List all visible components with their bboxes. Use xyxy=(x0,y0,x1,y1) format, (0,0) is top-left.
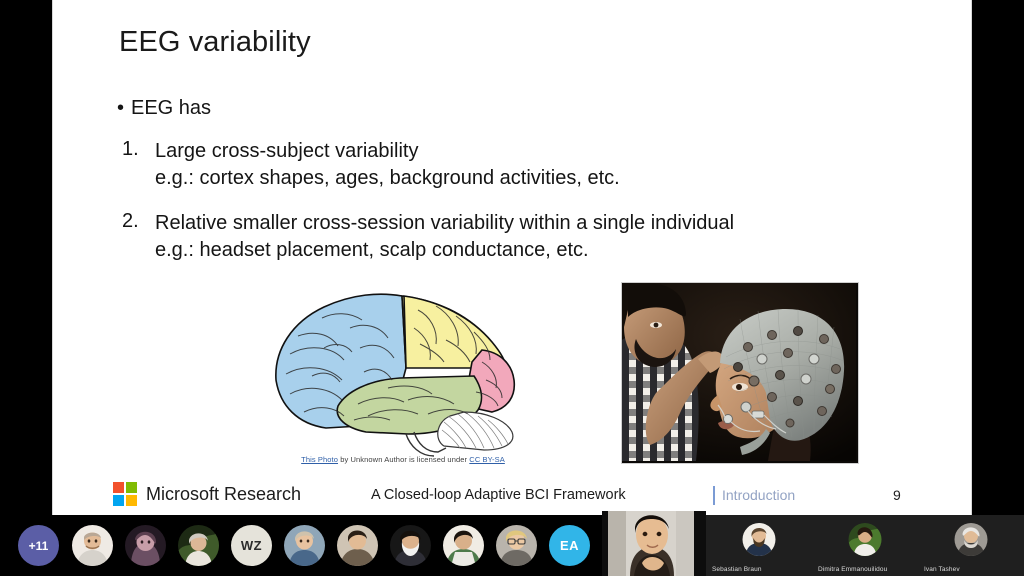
participant-name: Ivan Tashev xyxy=(924,566,960,573)
brain-lobes-diagram xyxy=(268,288,538,460)
avatar[interactable] xyxy=(337,525,378,566)
slide-canvas: EEG variability •EEG has 1. Large cross-… xyxy=(52,0,972,515)
avatar xyxy=(955,523,988,556)
avatar-initials-ea[interactable]: EA xyxy=(549,525,590,566)
section-label: Introduction xyxy=(713,487,795,503)
avatar[interactable] xyxy=(72,525,113,566)
avatar[interactable] xyxy=(284,525,325,566)
numbered-item-2-number: 2. xyxy=(117,210,155,264)
numbered-item-1-line1: Large cross-subject variability xyxy=(155,138,620,165)
avatar[interactable] xyxy=(443,525,484,566)
avatar[interactable] xyxy=(496,525,537,566)
numbered-item-1-line2: e.g.: cortex shapes, ages, background ac… xyxy=(155,165,620,192)
slide-body: •EEG has 1. Large cross-subject variabil… xyxy=(117,96,947,264)
avatar[interactable] xyxy=(125,525,166,566)
image-credit-line: This Photo by Unknown Author is licensed… xyxy=(223,455,583,464)
participant-tile-sebastian-braun[interactable]: Sebastian Braun xyxy=(706,515,812,576)
numbered-item-2: 2. Relative smaller cross-session variab… xyxy=(117,210,947,264)
bullet-item-eeg-has: •EEG has xyxy=(117,96,947,121)
meeting-participant-bar: +11 xyxy=(0,515,1024,576)
avatar xyxy=(849,523,882,556)
microsoft-research-wordmark: Microsoft Research xyxy=(146,484,301,505)
credit-license-link[interactable]: CC BY-SA xyxy=(469,455,505,464)
bullet-item-label: EEG has xyxy=(131,97,211,119)
numbered-item-1-number: 1. xyxy=(117,138,155,192)
numbered-item-2-line1: Relative smaller cross-session variabili… xyxy=(155,210,734,237)
credit-middle-text: by Unknown Author is licensed under xyxy=(338,455,469,464)
numbered-item-2-line2: e.g.: headset placement, scalp conductan… xyxy=(155,237,734,264)
avatar-strip: +11 xyxy=(0,515,600,576)
page-number: 9 xyxy=(893,487,901,503)
slide-title: EEG variability xyxy=(119,26,311,59)
bullet-dot-icon: • xyxy=(117,96,131,121)
avatar[interactable] xyxy=(390,525,431,566)
credit-this-photo-link[interactable]: This Photo xyxy=(301,455,338,464)
slide-footer: Microsoft Research A Closed-loop Adaptiv… xyxy=(53,475,973,515)
active-speaker-tile[interactable] xyxy=(602,511,706,576)
presentation-screen-share-view: EEG variability •EEG has 1. Large cross-… xyxy=(0,0,1024,576)
participant-tile-dimitra-emmanouilidou[interactable]: Dimitra Emmanouilidou xyxy=(812,515,918,576)
deck-title: A Closed-loop Adaptive BCI Framework xyxy=(371,487,626,503)
numbered-item-1: 1. Large cross-subject variability e.g.:… xyxy=(117,138,947,192)
avatar-overflow-count[interactable]: +11 xyxy=(18,525,59,566)
participant-name: Sebastian Braun xyxy=(712,566,762,573)
participant-name: Dimitra Emmanouilidou xyxy=(818,566,887,573)
avatar[interactable] xyxy=(178,525,219,566)
microsoft-logo-icon xyxy=(113,482,137,506)
participant-tile-ivan-tashev[interactable]: Ivan Tashev xyxy=(918,515,1024,576)
avatar xyxy=(743,523,776,556)
avatar-initials-wz[interactable]: WZ xyxy=(231,525,272,566)
eeg-cap-placement-photo xyxy=(621,282,859,464)
